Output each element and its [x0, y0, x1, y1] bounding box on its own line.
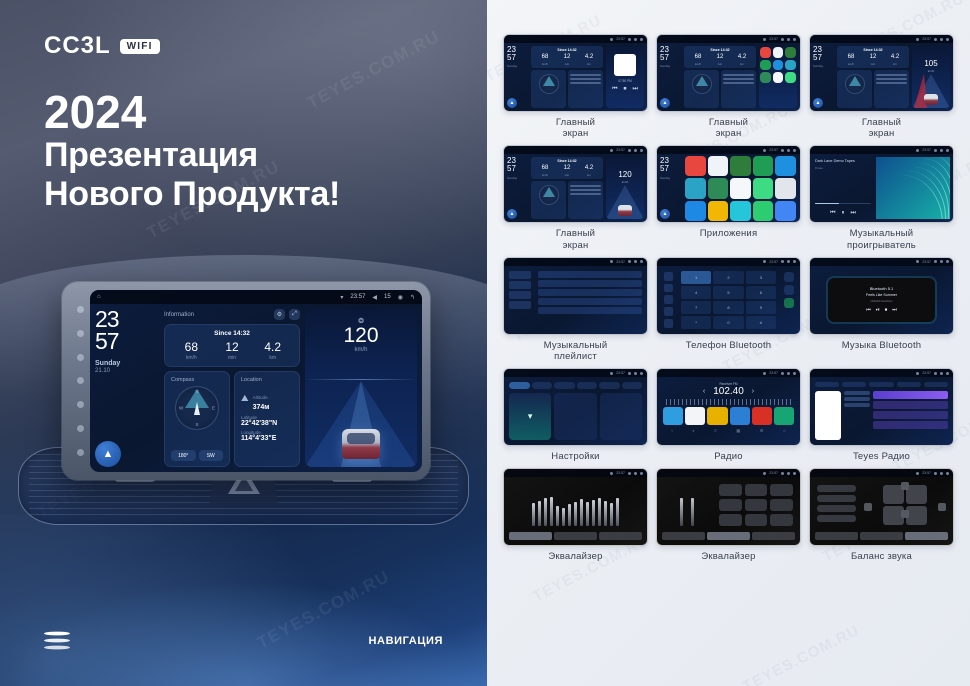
camera-icon	[940, 372, 943, 375]
app-icon-2[interactable]	[730, 156, 751, 177]
clock-minutes: 57	[507, 165, 528, 173]
trip-information-card[interactable]: Since 14:32 68 km/h 12 min 4.2 km	[531, 46, 603, 68]
volume-icon	[934, 149, 937, 152]
information-header: Information ⚙ ⤢	[164, 309, 300, 320]
preset-5[interactable]	[774, 407, 794, 425]
preset-buttons[interactable]	[715, 480, 797, 530]
thumb-content	[810, 377, 953, 445]
stat-unit: km	[884, 62, 906, 66]
stat-value: 12	[556, 165, 578, 171]
trip-stat: 68 km/h	[840, 54, 862, 66]
camera-icon	[787, 149, 790, 152]
thumb-content: 2357 Sunday ▲ Since 14:32 68 km/h 12 min…	[504, 154, 647, 222]
head-unit-screen[interactable]: ⌂ ▾ 23:57 ◀ 15 ◉ ↰ 23 57 Sunday 21.10 ▲	[90, 290, 422, 472]
wifi-icon	[916, 38, 919, 41]
playlist-sidebar[interactable]	[507, 269, 533, 331]
bezel-buttons[interactable]	[74, 298, 86, 464]
eq-band-12[interactable]	[604, 501, 607, 527]
wifi-icon	[763, 149, 766, 152]
camera-icon	[634, 38, 637, 41]
thumb-bluetooth-phone[interactable]: 23:57 123456789*0#	[656, 257, 801, 335]
thumb-applications[interactable]: 23:57 2357 Sunday ▲	[656, 145, 801, 223]
logo-text: CC3L	[44, 32, 111, 60]
preset-1[interactable]	[685, 407, 705, 425]
back-icon	[793, 38, 796, 41]
clock-weekday: Sunday	[507, 64, 528, 68]
call-icon	[784, 298, 794, 308]
altitude-label: Altitude	[253, 395, 268, 400]
product-logo: CC3L WIFI	[44, 32, 160, 60]
thumb-status-bar: 23:57	[657, 369, 800, 377]
app-icon-13[interactable]	[753, 201, 774, 222]
compass-widget[interactable]	[531, 70, 566, 108]
speed-unit: km/h	[606, 180, 644, 184]
radio-bottom-nav[interactable]: ‹⌕≡ ▦⚙⌂	[660, 425, 797, 436]
wifi-icon	[763, 372, 766, 375]
clock-minutes: 57	[95, 331, 159, 353]
camera-icon	[940, 472, 943, 475]
phone-sidebar[interactable]	[660, 269, 676, 331]
preset-button-2[interactable]	[770, 484, 793, 496]
arrow-left-icon[interactable]	[864, 503, 872, 511]
thumb-home-screen-drive[interactable]: 23:57 2357 Sunday ▲ Since 14:32 68 km/h …	[503, 145, 648, 223]
thumbnail-caption: Главныйэкран	[556, 228, 595, 250]
thumbnail-caption: Главныйэкран	[862, 117, 901, 139]
media-widget[interactable]: 07:50 PM ⏮⏹⏭	[606, 46, 644, 108]
app-icon-7[interactable]	[773, 72, 784, 83]
thumb-status-bar: 23:57	[810, 146, 953, 154]
thumb-status-bar: 23:57	[657, 146, 800, 154]
compass-widget[interactable]	[531, 181, 566, 219]
thumbnail-caption: Радио	[714, 451, 742, 462]
preset-button-7[interactable]	[745, 514, 768, 526]
dial-key-#[interactable]: #	[746, 316, 776, 329]
eq-band-9[interactable]	[586, 502, 589, 526]
trip-since: Since 14:32	[840, 48, 906, 52]
status-bar-left: ⌂	[97, 294, 333, 300]
app-icon-8[interactable]	[753, 178, 774, 199]
thumb-teyes-radio[interactable]: 23:57	[809, 368, 954, 446]
preset-button-6[interactable]	[719, 514, 742, 526]
app-icon-9[interactable]	[775, 178, 796, 199]
station-presets[interactable]	[660, 407, 797, 425]
clock-widget[interactable]: 2357 Sunday ▲	[507, 157, 528, 219]
trip-information-card[interactable]: Since 14:32 68 km/h 12 min	[164, 324, 300, 367]
dial-key-3[interactable]: 3	[746, 271, 776, 284]
compass-readout: 180° SW	[171, 450, 223, 461]
bezel-button-back[interactable]	[77, 401, 84, 408]
info-column: Since 14:32 68 km/h 12 min 4.2 km	[684, 46, 756, 108]
radio-frequency: 102.40	[713, 386, 744, 397]
trip-information-card[interactable]: Since 14:32 68 km/h 12 min 4.2 km	[684, 46, 756, 68]
app-icon-12[interactable]	[730, 201, 751, 222]
camera-icon	[787, 372, 790, 375]
camera-icon	[940, 149, 943, 152]
app-icon-1[interactable]	[773, 47, 784, 58]
driving-view-widget[interactable]: 105 km/h	[912, 46, 950, 108]
balance-screen	[813, 480, 950, 542]
eq-band-0[interactable]	[532, 503, 535, 526]
dial-key-5[interactable]: 5	[713, 286, 743, 299]
driving-view-widget[interactable]: 120 km/h	[606, 157, 644, 219]
information-title: Information	[164, 312, 270, 318]
thumb-content: 2357 Sunday ▲ Since 14:32 68 km/h 12 min…	[657, 43, 800, 111]
gear-icon[interactable]: ⚙	[274, 309, 285, 320]
horizon-line	[305, 379, 417, 380]
stat-unit: min	[556, 173, 578, 177]
app-icon-4[interactable]	[773, 60, 784, 71]
phone-actions[interactable]	[781, 269, 797, 331]
home-circle-icon[interactable]: ⌂	[97, 294, 101, 300]
bezel-button-next[interactable]	[77, 449, 84, 456]
trip-stats: 68 km/h 12 min 4.2 km	[171, 341, 293, 361]
thumbnail-caption: Телефон Bluetooth	[686, 340, 772, 351]
thumb-content: Receiver FM ‹ 102.40 › ‹⌕≡ ▦⚙⌂	[657, 377, 800, 445]
camera-icon	[940, 38, 943, 41]
status-time: 23:57	[350, 294, 365, 300]
navigation-arrow-icon[interactable]: ▲	[507, 209, 517, 219]
preset-0[interactable]	[663, 407, 683, 425]
dial-key-1[interactable]: 1	[681, 271, 711, 284]
thumb-equalizer-presets[interactable]: 23:57	[656, 468, 801, 546]
thumb-home-screen-media[interactable]: 23:57 2357 Sunday ▲ Since 14:32 68 km/h …	[503, 34, 648, 112]
location-latitude-block: Latitude 22°42'38"N	[241, 415, 293, 427]
eq-band-6[interactable]	[568, 504, 571, 526]
compass-widget[interactable]	[837, 70, 872, 108]
track-title: Feels Like Summer	[866, 293, 897, 297]
clock-widget[interactable]: 2357 Sunday ▲	[507, 46, 528, 108]
camera-icon	[940, 260, 943, 263]
navigation-arrow-icon[interactable]: ▲	[660, 98, 670, 108]
trip-information-card[interactable]: Since 14:32 68 km/h 12 min 4.2 km	[837, 46, 909, 68]
screenshot-grid-panel: TEYES.COM.RU TEYES.COM.RU TEYES.COM.RU T…	[487, 0, 970, 686]
preset-4[interactable]	[752, 407, 772, 425]
wifi-icon	[916, 372, 919, 375]
bezel-button-power[interactable]	[77, 354, 84, 361]
settings-tabs[interactable]	[507, 380, 644, 391]
back-icon	[640, 372, 643, 375]
app-icon-6[interactable]	[760, 72, 771, 83]
compass-direction: SW	[199, 450, 224, 461]
trip-stat: 12 min	[709, 54, 731, 66]
grid-cell: 23:57	[809, 468, 954, 562]
equalizer-tabs[interactable]	[660, 530, 797, 542]
preset-button-3[interactable]	[719, 499, 742, 511]
presentation-slide: TEYES.COM.RU TEYES.COM.RU TEYES.COM.RU T…	[0, 0, 970, 686]
thumb-status-bar: 23:57	[504, 146, 647, 154]
next-icon: ⏭	[851, 210, 856, 217]
dial-key-6[interactable]: 6	[746, 286, 776, 299]
grid-cell: 23:57 Receiver FM ‹ 102.40 › ‹	[656, 368, 801, 462]
teyes-radio-tabs[interactable]	[813, 380, 950, 389]
app-shortcut-grid	[759, 46, 797, 84]
wifi-icon	[763, 260, 766, 263]
clock-weekday: Sunday	[660, 176, 681, 180]
navigation-arrow-icon[interactable]: ▲	[813, 98, 823, 108]
thumb-home-screen-speed[interactable]: 23:57 2357 Sunday ▲ Since 14:32 68 km/h …	[809, 34, 954, 112]
eq-band-5[interactable]	[562, 508, 565, 526]
back-icon[interactable]: ↰	[410, 294, 415, 301]
preset-2[interactable]	[707, 407, 727, 425]
bezel-button-volume-down[interactable]	[77, 306, 84, 313]
camera-icon[interactable]: ◉	[398, 294, 403, 301]
compass-dial	[845, 74, 865, 94]
clock-date: 21.10	[95, 368, 159, 374]
playlist-track-list[interactable]	[536, 269, 644, 331]
eq-band-10[interactable]	[592, 500, 595, 526]
app-icon-3[interactable]	[753, 156, 774, 177]
next-station-icon[interactable]: ›	[752, 388, 754, 395]
back-icon	[946, 38, 949, 41]
grid-cell: 23:57 2357 Sunday ▲ Since 14:32 68 km/h …	[656, 34, 801, 139]
driving-view-widget[interactable]: ❂ 120 km/h	[305, 309, 417, 467]
app-shortcuts-widget[interactable]	[759, 46, 797, 108]
arrow-down-icon[interactable]	[901, 510, 909, 518]
dial-pad[interactable]: 123456789*0#	[679, 269, 778, 331]
equalizer-band-sliders[interactable]	[507, 480, 644, 530]
navigation-arrow-icon[interactable]: ▲	[507, 98, 517, 108]
volume-icon	[781, 372, 784, 375]
app-icon-14[interactable]	[775, 201, 796, 222]
preset-button-0[interactable]	[719, 484, 742, 496]
expand-icon[interactable]: ⤢	[289, 309, 300, 320]
app-icon-8[interactable]	[785, 72, 796, 83]
grid-cell: 23:57 ▾ Настройки	[503, 368, 648, 462]
clock-widget[interactable]: 23 57 Sunday 21.10 ▲	[95, 309, 159, 467]
thumbnail-caption: Главныйэкран	[709, 117, 748, 139]
dial-key-7[interactable]: 7	[681, 301, 711, 314]
arrow-right-icon[interactable]	[938, 503, 946, 511]
clock-minutes: 57	[507, 54, 528, 62]
dial-key-4[interactable]: 4	[681, 286, 711, 299]
compass-dial: N S W E	[175, 386, 219, 430]
thumb-equalizer-bands[interactable]: 23:57	[503, 468, 648, 546]
balance-presets[interactable]	[813, 480, 860, 530]
bezel-button-home[interactable]	[77, 377, 84, 384]
thumb-bluetooth-music[interactable]: 23:57 Bluetooth 5.1 Feels Like Summer Ch…	[809, 257, 954, 335]
back-icon	[793, 260, 796, 263]
location-widget[interactable]	[721, 70, 756, 108]
application-grid	[684, 157, 797, 219]
trip-stat: 68 km/h	[687, 54, 709, 66]
compass-dial	[539, 185, 559, 205]
more-tile	[600, 393, 642, 440]
grid-cell: 23:57 Эквалайзер	[656, 468, 801, 562]
status-time: 23:57	[616, 148, 625, 152]
eq-band-4[interactable]	[556, 506, 559, 527]
grid-cell: 23:57 Эквалайзер	[503, 468, 648, 562]
track-artist: Childish Gambino	[870, 299, 892, 303]
dial-key-0[interactable]: 0	[713, 316, 743, 329]
app-icon-4[interactable]	[775, 156, 796, 177]
stat-value: 12	[709, 54, 731, 60]
eq-band-14[interactable]	[616, 498, 619, 526]
speed-value: 105	[912, 60, 950, 68]
page-title: 2024 Презентация Нового Продукта!	[44, 88, 340, 214]
trip-since: Since 14:32	[171, 330, 293, 337]
speed-unit: km/h	[912, 69, 950, 73]
eq-band-3[interactable]	[550, 497, 553, 527]
thumb-home-screen-apps[interactable]: 23:57 2357 Sunday ▲ Since 14:32 68 km/h …	[656, 34, 801, 112]
grid-cell: 23:57 Teyes Радио	[809, 368, 954, 462]
trip-stat: 12 min	[862, 54, 884, 66]
trip-since: Since 14:32	[687, 48, 753, 52]
trip-stat: 12 min	[212, 341, 253, 361]
compass-widget[interactable]: Compass N S W E 180°	[164, 371, 230, 467]
app-icon-1[interactable]	[708, 156, 729, 177]
player-controls[interactable]: ⏮⏸⏭	[815, 207, 871, 217]
search-icon: ⌕	[692, 428, 694, 433]
station-list[interactable]	[873, 391, 948, 440]
navigation-arrow-icon[interactable]: ▲	[660, 209, 670, 219]
ambient-glow	[0, 536, 487, 686]
wifi-icon	[916, 149, 919, 152]
next-icon: ⏭	[633, 86, 638, 93]
bezel-button-prev[interactable]	[77, 425, 84, 432]
head-unit: ⌂ ▾ 23:57 ◀ 15 ◉ ↰ 23 57 Sunday 21.10 ▲	[62, 282, 430, 480]
status-time: 23:57	[769, 260, 778, 264]
media-controls[interactable]: ⏮⏹⏭	[606, 83, 644, 93]
thumb-content: 2357 Sunday ▲	[657, 154, 800, 222]
equalizer-tabs[interactable]	[813, 530, 950, 542]
settings-tiles[interactable]: ▾	[507, 391, 644, 442]
bezel-button-volume-up[interactable]	[77, 330, 84, 337]
dial-key-8[interactable]: 8	[713, 301, 743, 314]
app-icon-6[interactable]	[708, 178, 729, 199]
compass-dial	[539, 74, 559, 94]
eq-band-11[interactable]	[598, 498, 601, 527]
volume-icon	[628, 472, 631, 475]
navigation-arrow-icon[interactable]: ▲	[95, 441, 121, 467]
app-icon-0[interactable]	[760, 47, 771, 58]
preset-3[interactable]	[730, 407, 750, 425]
preset-button-5[interactable]	[770, 499, 793, 511]
app-icon-2[interactable]	[785, 47, 796, 58]
volume-icon[interactable]: ◀	[372, 294, 377, 301]
eq-band-8[interactable]	[580, 499, 583, 526]
back-icon: ‹	[671, 428, 672, 433]
thumb-content: 2357 Sunday ▲ Since 14:32 68 km/h 12 min…	[810, 43, 953, 111]
stat-unit: min	[556, 62, 578, 66]
camera-icon	[787, 472, 790, 475]
stat-unit: km/h	[534, 62, 556, 66]
equalizer-tabs[interactable]	[507, 530, 644, 542]
app-icon-7[interactable]	[730, 178, 751, 199]
home-icon: ⌂	[783, 428, 785, 433]
volume-icon	[781, 149, 784, 152]
eq-band-2[interactable]	[544, 498, 547, 526]
equalizer-screen	[507, 480, 644, 542]
location-widget[interactable]	[568, 70, 603, 108]
app-icon-5[interactable]	[785, 60, 796, 71]
trip-stat: 4.2 km	[252, 341, 293, 361]
stop-icon: ⏹	[885, 307, 888, 313]
eq-band-13[interactable]	[610, 503, 613, 526]
track-title: Dark Lane Demo Tapes	[815, 159, 871, 163]
wifi-icon	[610, 472, 613, 475]
eq-band-7[interactable]	[574, 502, 577, 527]
dial-key-2[interactable]: 2	[713, 271, 743, 284]
stat-unit: min	[862, 62, 884, 66]
app-icon-10[interactable]	[685, 201, 706, 222]
preset-button-4[interactable]	[745, 499, 768, 511]
hero-footer: НАВИГАЦИЯ	[0, 630, 487, 652]
clock-widget[interactable]: 2357 Sunday ▲	[813, 46, 834, 108]
camera-icon	[634, 472, 637, 475]
stat-unit: km	[731, 62, 753, 66]
compass-south: S	[195, 422, 198, 427]
stat-value: 4.2	[884, 54, 906, 60]
app-icon-3[interactable]	[760, 60, 771, 71]
camera-icon	[634, 260, 637, 263]
eq-band-1[interactable]	[538, 501, 541, 527]
thumb-music-playlist[interactable]: 23:57	[503, 257, 648, 335]
dial-key-*[interactable]: *	[681, 316, 711, 329]
app-icon-11[interactable]	[708, 201, 729, 222]
clock-widget[interactable]: 2357 Sunday ▲	[660, 157, 681, 219]
equalizer-presets-screen	[660, 480, 797, 542]
progress-bar[interactable]	[815, 203, 871, 205]
preset-button-1[interactable]	[745, 484, 768, 496]
thumbnail-caption: Баланс звука	[851, 551, 912, 562]
trip-stat: 68 km/h	[171, 341, 212, 361]
app-icon-5[interactable]	[685, 178, 706, 199]
location-widget[interactable]: Location ⛰ Altitude 374м Latitude	[234, 371, 300, 467]
waveform-visualizer	[876, 157, 950, 219]
thumb-sound-balance[interactable]: 23:57	[809, 468, 954, 546]
prev-station-icon[interactable]: ‹	[703, 388, 705, 395]
app-icon-0[interactable]	[685, 156, 706, 177]
thumb-settings[interactable]: 23:57 ▾	[503, 368, 648, 446]
thumb-status-bar: 23:57	[810, 35, 953, 43]
camera-icon	[634, 149, 637, 152]
status-time: 23:57	[922, 148, 931, 152]
back-icon	[793, 149, 796, 152]
location-widget[interactable]	[874, 70, 909, 108]
trip-since: Since 14:32	[534, 159, 600, 163]
stat-unit: min	[709, 62, 731, 66]
player-controls[interactable]: ⏮⏯ ⏹⏭	[866, 307, 897, 313]
navigation-label: НАВИГАЦИЯ	[369, 635, 443, 647]
album-art	[815, 391, 841, 440]
thumb-radio[interactable]: 23:57 Receiver FM ‹ 102.40 › ‹	[656, 368, 801, 446]
location-widget[interactable]	[568, 181, 603, 219]
thumb-status-bar: 23:57	[504, 35, 647, 43]
stat-unit: km/h	[687, 62, 709, 66]
thumb-status-bar: 23:57	[810, 469, 953, 477]
frequency-scale[interactable]	[666, 399, 791, 405]
stat-value: 68	[687, 54, 709, 60]
back-icon	[640, 149, 643, 152]
balance-pad[interactable]	[860, 480, 950, 530]
thumbnail-caption: Эквалайзер	[701, 551, 755, 562]
bass-treble-sliders[interactable]	[660, 480, 715, 530]
status-time: 23:57	[769, 37, 778, 41]
clock-weekday: Sunday	[95, 360, 159, 367]
thumbnail-caption: Настройки	[551, 451, 599, 462]
clock-widget[interactable]: 2357 Sunday ▲	[660, 46, 681, 108]
volume-icon	[934, 472, 937, 475]
preset-button-8[interactable]	[770, 514, 793, 526]
status-volume: 15	[384, 294, 391, 300]
compass-widget[interactable]	[684, 70, 719, 108]
thumb-music-player[interactable]: 23:57 Dark Lane Demo Tapes Drake ⏮⏸⏭	[809, 145, 954, 223]
grid-cell: 23:57 2357 Sunday ▲ Since 14:32 68 km/h …	[503, 34, 648, 139]
dial-key-9[interactable]: 9	[746, 301, 776, 314]
compass-east: E	[212, 406, 215, 411]
trip-information-card[interactable]: Since 14:32 68 km/h 12 min 4.2 km	[531, 157, 603, 179]
arrow-up-icon[interactable]	[901, 482, 909, 490]
